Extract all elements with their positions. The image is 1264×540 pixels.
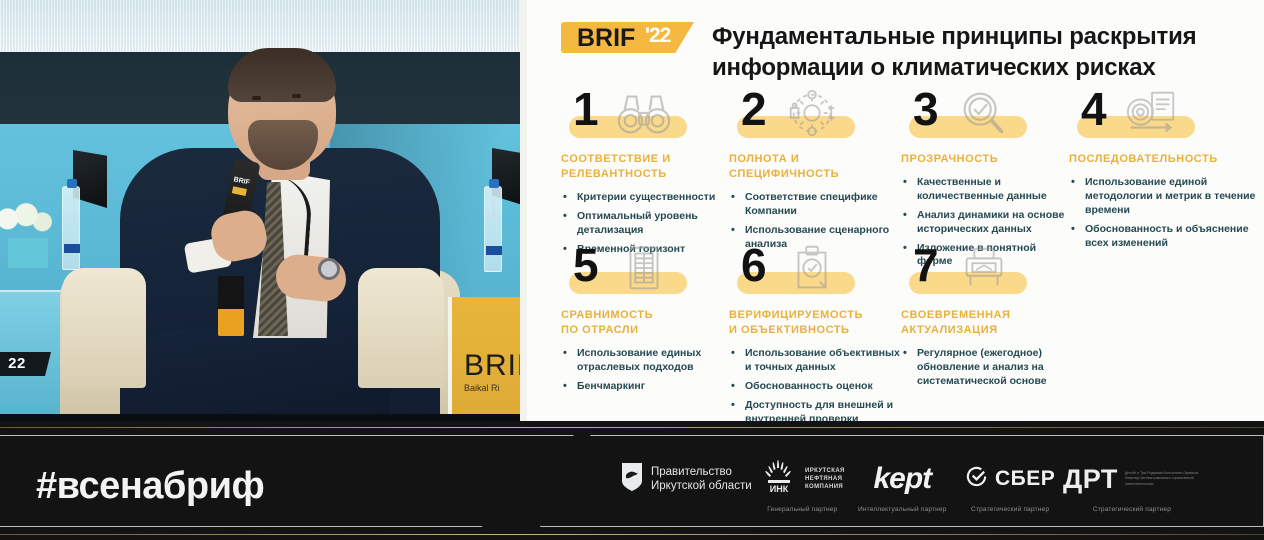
partner-gov-irkutsk: Правительство Иркутской области [620,461,752,506]
card-4-number: 4 [1081,86,1106,132]
wristwatch [318,258,340,280]
flower-vase [8,238,48,268]
sber-caption: Стратегический партнер [971,506,1049,513]
card-6-number: 6 [741,242,766,288]
slide-header: BRIF '22 Фундаментальные принципы раскры… [527,0,1264,82]
drt-caption: Стратегический партнер [1093,506,1171,513]
inc-line-1: ИРКУТСКАЯ [805,468,845,474]
card-6-label: ВЕРИФИЦИРУЕМОСТЬ И ОБЪЕКТИВНОСТЬ [729,308,901,338]
card-4-bullets: Использование единой методологии и метри… [1069,176,1257,250]
card-2-label: ПОЛНОТА И СПЕЦИФИЧНОСТЬ [729,152,901,182]
presentation-slide: BRIF '22 Фундаментальные принципы раскры… [527,0,1264,421]
list-item: Обоснованность оценок [729,380,901,394]
speaker-badge [218,276,244,336]
list-item: Оптимальный уровень детализация [561,210,729,238]
card-3-label: ПРОЗРАЧНОСТЬ [901,152,1069,167]
list-item: Бенчмаркинг [561,380,729,394]
card-3-head: 3 [901,88,1069,150]
armchair-arm-right [358,268,444,388]
kept-wordmark: kept [873,462,931,496]
principles-grid: 1 СООТВЕТСТВИЕ И РЕЛЕВАНТНОСТЬ Критерии … [527,88,1264,421]
brif-board-subtitle: Baikal Ri [464,383,500,393]
list-item: Использование объективных и точных данны… [729,347,901,375]
sber-wordmark: СБЕР [995,467,1055,491]
speaker-legs [140,330,390,421]
gov-line-2: Иркутской области [651,480,752,492]
brif-logo: BRIF '22 [561,22,694,53]
flower-arrangement [0,200,56,242]
drt-logo: ДРТ Делойт и Туш Риджинал Консалтинг Сер… [1063,461,1201,497]
principle-card-4: 4 ПОСЛЕДОВАТЕЛЬНОСТЬ Использование едино… [1069,88,1257,255]
card-7-label: СВОЕВРЕМЕННАЯ АКТУАЛИЗАЦИЯ [901,308,1081,338]
card-4-label: ПОСЛЕДОВАТЕЛЬНОСТЬ [1069,152,1257,167]
brif-board-title: BRIF [464,349,527,383]
kept-caption: Интеллектуальный партнер [858,506,947,513]
armchair-arm-left [62,268,146,388]
svg-text:ИНК: ИНК [770,484,789,494]
bar-divider-top [0,427,1264,428]
speaker-eye-right [292,94,301,98]
led-screen-top [0,0,527,52]
sponsor-bar: #всенабриф Правительство Иркутской облас… [0,421,1264,540]
video-right-edge [520,0,527,421]
brif-stage-board: BRIF Baikal Ri [448,297,527,421]
principle-card-5: 5 СРАВНИМОСТЬ ПО ОТРАСЛИ Использование е… [561,244,729,399]
list-item: Анализ динамики на основе исторических д… [901,209,1069,237]
partner-kept: kept Интеллектуальный партнер [858,461,947,513]
kept-logo: kept [873,461,931,497]
card-5-head: 5 [561,244,729,306]
card-2-head: 2 [729,88,901,150]
bar-divider-bottom [0,534,1264,535]
card-7-number: 7 [913,242,938,288]
list-item: Обоснованность и объяснение всех изменен… [1069,223,1257,251]
list-item: Использование единой методологии и метри… [1069,176,1257,218]
binoculars-icon [615,88,673,138]
sber-circle-icon [965,465,988,493]
partner-drt: ДРТ Делойт и Туш Риджинал Консалтинг Сер… [1063,461,1201,513]
card-4-head: 4 [1069,88,1257,150]
card-1-number: 1 [573,86,598,132]
livestream-frame: BRIF 22 BRIF Baikal Ri BRIF '22 Фундамен… [0,0,1264,540]
principle-card-1: 1 СООТВЕТСТВИЕ И РЕЛЕВАНТНОСТЬ Критерии … [561,88,729,262]
card-1-label: СООТВЕТСТВИЕ И РЕЛЕВАНТНОСТЬ [561,152,729,182]
inc-logo: ИНК ИРКУТСКАЯ НЕФТЯНАЯ КОМПАНИЯ [760,461,845,497]
sber-logo: СБЕР [965,461,1055,497]
gear-network-icon [783,88,841,138]
list-item: Качественные и количественные данные [901,176,1069,204]
speaker-eye-left [252,96,261,100]
principle-card-2: 2 ПОЛНОТА И СПЕЦИФИЧНОСТЬ [729,88,901,257]
list-item: Соответствие специфике Компании [729,191,901,219]
inc-caption: Генеральный партнер [767,506,837,513]
card-7-bullets: Регулярное (ежегодное) обновление и анал… [901,347,1081,389]
brif-logo-year: '22 [645,24,670,48]
drt-fine-print: Делойт и Туш Риджинал Консалтинг Сервиси… [1125,471,1201,486]
card-5-label: СРАВНИМОСТЬ ПО ОТРАСЛИ [561,308,729,338]
inc-line-2: НЕФТЯНАЯ [805,476,842,482]
slide-title: Фундаментальные принципы раскрытия инфор… [712,22,1257,83]
card-7-head: 7 [901,244,1081,306]
microphone-logo-accent [232,186,247,196]
inc-fountain-icon: ИНК [760,458,798,501]
brif-logo-name: BRIF [577,24,635,53]
list-item: Использование единых отраслевых подходов [561,347,729,375]
list-item: Регулярное (ежегодное) обновление и анал… [901,347,1081,389]
gear-document-icon [1123,88,1181,138]
card-2-number: 2 [741,86,766,132]
gov-irkutsk-logo: Правительство Иркутской области [620,461,752,497]
stage-sign-text: 22 [0,352,48,376]
inc-line-3: КОМПАНИЯ [805,484,843,490]
card-1-head: 1 [561,88,729,150]
water-bottle-right [484,186,502,272]
water-bottle-left [62,186,80,270]
drt-wordmark: ДРТ [1063,464,1118,495]
card-5-number: 5 [573,242,598,288]
document-lines-icon [615,244,673,294]
partner-inc: ИНК ИРКУТСКАЯ НЕФТЯНАЯ КОМПАНИЯ Генераль… [760,461,845,513]
stage-sign-22: 22 [0,352,51,376]
principle-card-7: 7 СВОЕВРЕМЕННАЯ АКТУАЛИЗАЦИЯ Регулярное … [901,244,1081,394]
gov-irkutsk-name: Правительство Иркутской области [651,465,752,494]
card-6-bullets: Использование объективных и точных данны… [729,347,901,426]
scanner-update-icon [955,244,1013,294]
event-hashtag: #всенабриф [36,465,264,508]
gov-line-1: Правительство [651,466,732,478]
coat-of-arms-icon [620,462,644,497]
card-3-number: 3 [913,86,938,132]
magnifier-check-icon [955,88,1013,138]
stage-floor-strip [0,414,527,421]
clipboard-check-icon [783,244,841,294]
partner-sber: СБЕР Стратегический партнер [965,461,1055,513]
microphone-logo-text: BRIF [233,176,250,186]
inc-name: ИРКУТСКАЯ НЕФТЯНАЯ КОМПАНИЯ [805,467,845,491]
card-6-head: 6 [729,244,901,306]
card-5-bullets: Использование единых отраслевых подходов… [561,347,729,394]
speaker-hair [228,48,336,102]
video-feed[interactable]: BRIF 22 BRIF Baikal Ri [0,0,527,421]
list-item: Критерии существенности [561,191,729,205]
principle-card-6: 6 ВЕРИФИЦИРУЕМОСТЬ И ОБЪЕКТИВНОСТЬ Испол… [729,244,901,432]
